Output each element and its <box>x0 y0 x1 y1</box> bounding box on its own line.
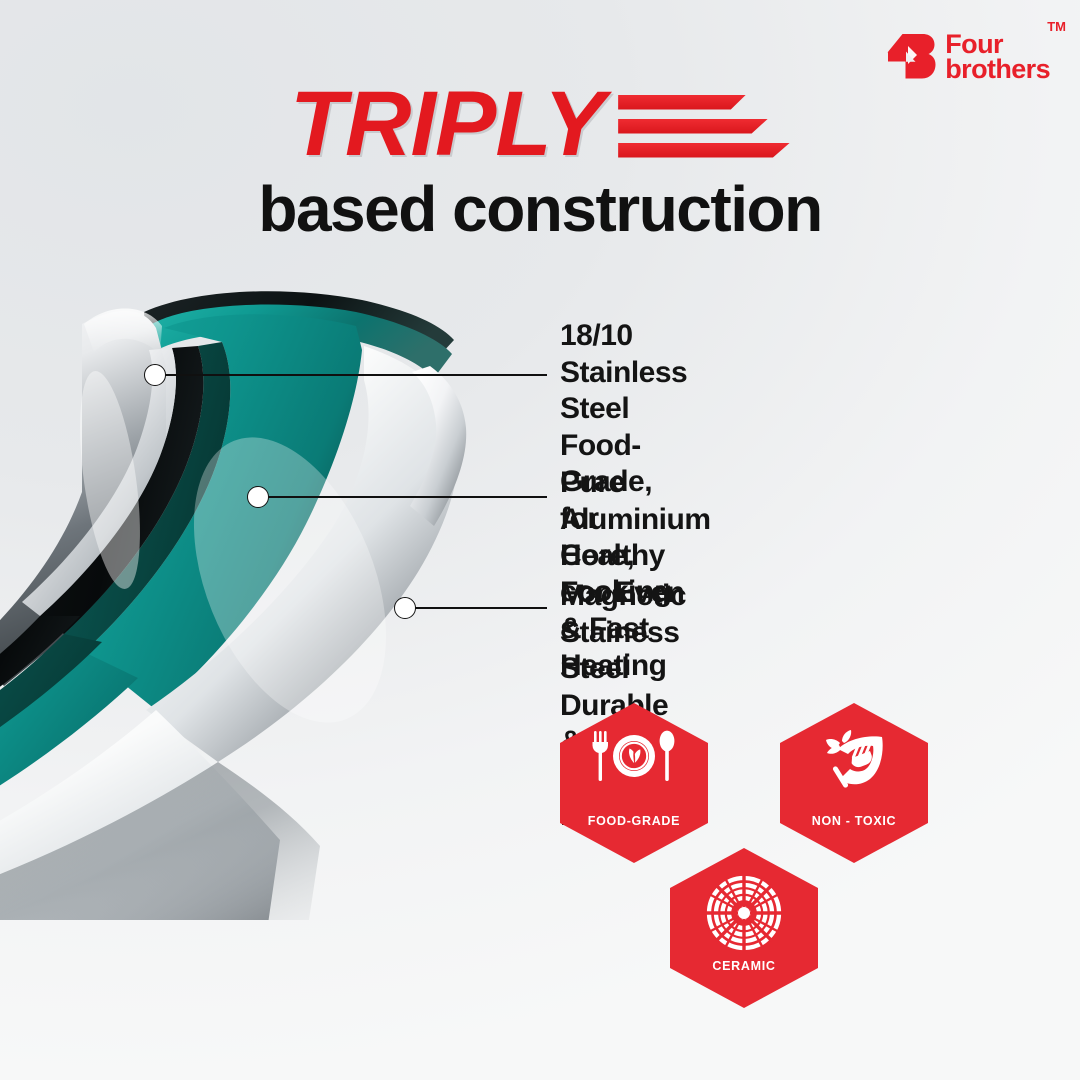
stripe-2 <box>618 119 768 134</box>
leaf-fork-icon <box>780 729 928 791</box>
concentric-coil-icon <box>670 874 818 952</box>
badge-ceramic[interactable]: CERAMIC <box>670 848 818 1008</box>
brand-wordmark: Four brothers TM <box>945 32 1050 82</box>
stripe-1 <box>618 95 746 110</box>
badge-non-toxic[interactable]: NON - TOXIC <box>780 703 928 863</box>
callout-leader-line <box>162 374 547 376</box>
trademark-symbol: TM <box>1047 21 1066 33</box>
triply-pan-cutaway-image <box>0 280 580 920</box>
stripe-3 <box>618 143 790 158</box>
four-brothers-4b-monogram-icon <box>884 33 936 80</box>
callout-dot[interactable] <box>394 597 416 619</box>
badge-caption: FOOD-GRADE <box>560 814 708 828</box>
three-red-stripes-icon <box>618 91 790 158</box>
callout-dot[interactable] <box>144 364 166 386</box>
callout-leader-line <box>265 496 547 498</box>
badge-food-grade[interactable]: FOOD-GRADE <box>560 703 708 863</box>
headline-block: TRIPLY based construction <box>0 78 1080 243</box>
badge-caption: NON - TOXIC <box>780 814 928 828</box>
callout-dot[interactable] <box>247 486 269 508</box>
badge-caption: CERAMIC <box>670 959 818 973</box>
callout-leader-line <box>412 607 547 609</box>
page-subtitle: based construction <box>0 176 1080 243</box>
product-infographic-poster: Four brothers TM TRIPLY based constructi… <box>0 0 1080 1080</box>
triply-title-row: TRIPLY <box>0 78 1080 170</box>
brand-logo: Four brothers TM <box>884 32 1050 82</box>
fork-plate-leaf-spoon-icon <box>560 729 708 785</box>
page-title: TRIPLY <box>290 78 604 170</box>
